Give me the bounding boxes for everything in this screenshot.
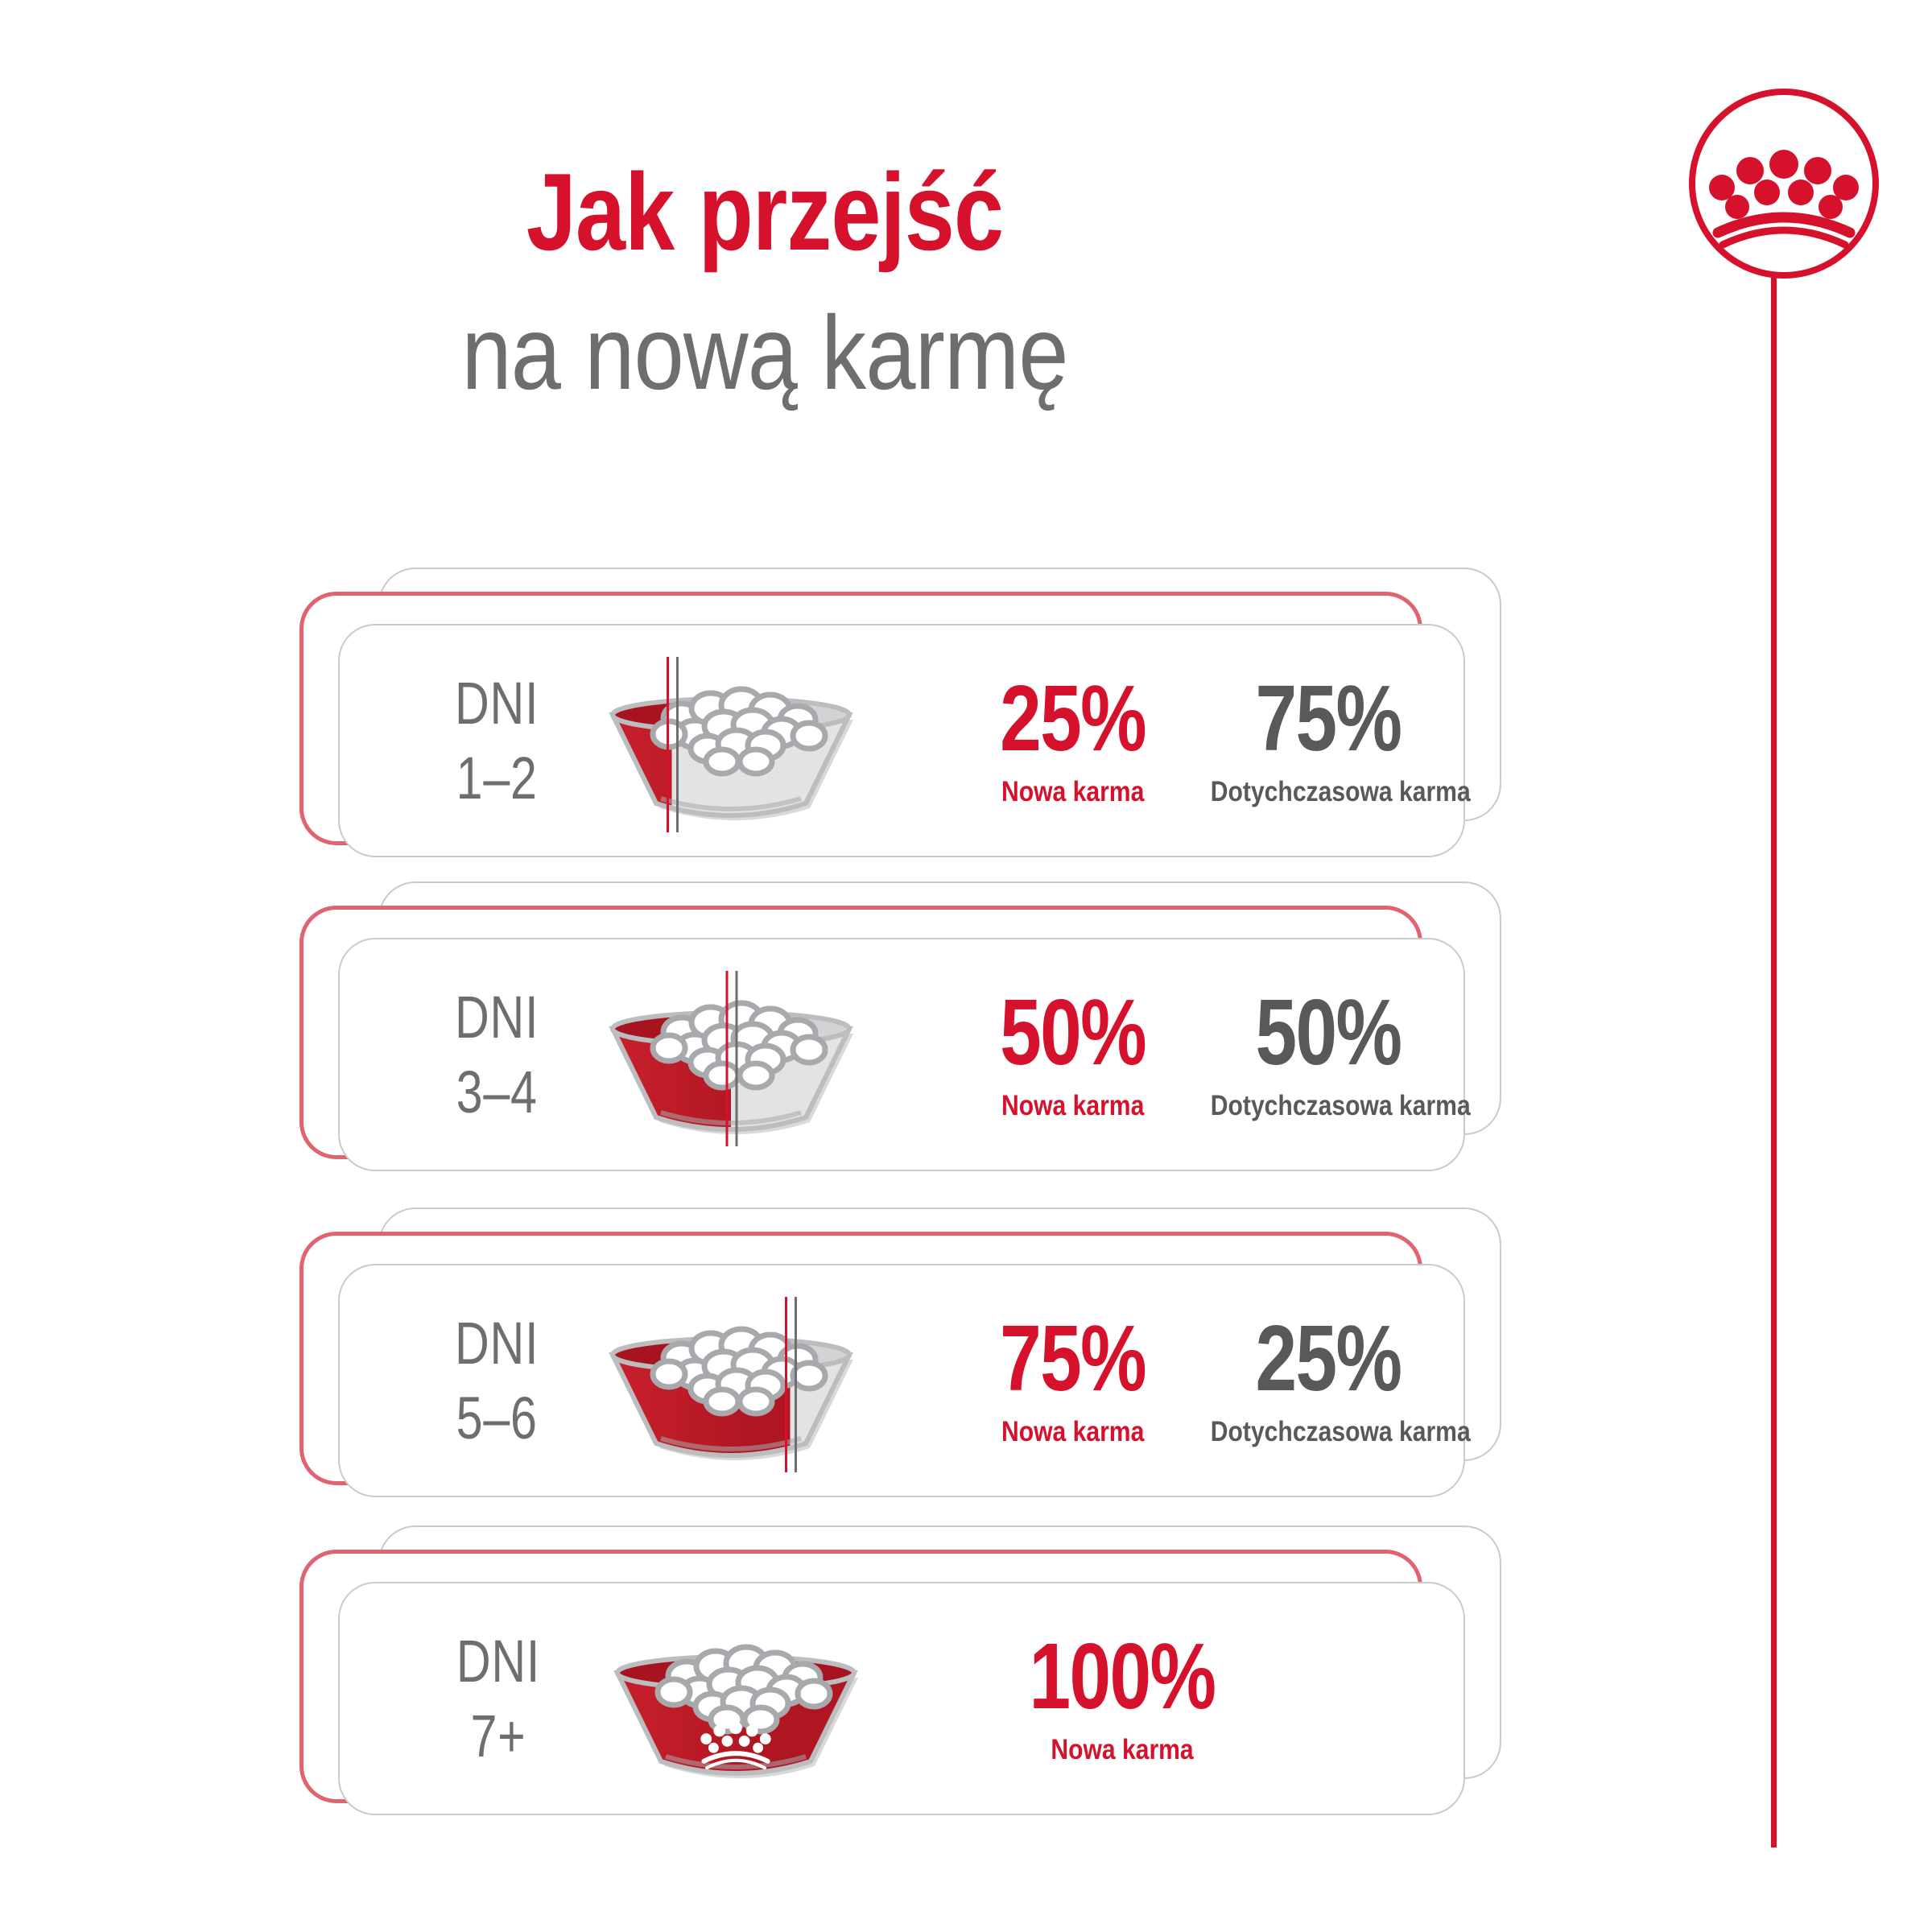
new-food-label: Nowa karma: [970, 1418, 1174, 1446]
day-range: 3–4: [424, 1062, 570, 1122]
bowl0: [598, 644, 864, 837]
new-food-column: 75% Nowa karma: [954, 1315, 1191, 1446]
new-food-percent: 50%: [977, 989, 1167, 1075]
royal-canin-crown-icon: [1687, 87, 1880, 280]
day-word: DNI: [424, 673, 570, 733]
new-food-percent: 25%: [977, 675, 1167, 762]
new-food-label: Nowa karma: [970, 778, 1174, 806]
old-food-label: Dotychczasowa karma: [1211, 1418, 1446, 1446]
old-food-column: 25% Dotychczasowa karma: [1191, 1315, 1465, 1446]
infographic-canvas: Jak przejść na nową karmę DNI: [0, 0, 1932, 1932]
old-food-column: 75% Dotychczasowa karma: [1191, 675, 1465, 806]
day-word: DNI: [424, 1313, 570, 1373]
day-range-label: DNI 1–2: [424, 673, 570, 809]
bowl3: [603, 1602, 869, 1795]
old-food-percent: 25%: [1219, 1315, 1438, 1402]
new-food-label: Nowa karma: [1018, 1736, 1226, 1764]
new-food-percent: 75%: [977, 1315, 1167, 1402]
day-word: DNI: [424, 1631, 572, 1691]
bowl1: [598, 958, 864, 1151]
day-range-label: DNI 3–4: [424, 987, 570, 1123]
day-range: 7+: [424, 1706, 572, 1766]
dog-bowl-icon: [588, 958, 873, 1151]
dog-bowl-icon: [591, 1602, 881, 1795]
dog-bowl-icon: [588, 1284, 873, 1477]
new-food-column: 25% Nowa karma: [954, 675, 1191, 806]
new-food-column: 100% Nowa karma: [1001, 1633, 1243, 1764]
dog-bowl-icon: [588, 644, 873, 837]
title-line-secondary: na nową karmę: [107, 300, 1422, 405]
new-food-label: Nowa karma: [970, 1092, 1174, 1120]
page-title: Jak przejść na nową karmę: [0, 157, 1529, 405]
title-line-primary: Jak przejść: [138, 157, 1392, 266]
day-range-label: DNI 7+: [424, 1631, 572, 1767]
day-word: DNI: [424, 987, 570, 1047]
day-range: 5–6: [424, 1388, 570, 1448]
old-food-label: Dotychczasowa karma: [1211, 1092, 1446, 1120]
step-content-row: DNI 7+: [338, 1582, 1465, 1815]
day-range-label: DNI 5–6: [424, 1313, 570, 1449]
logo-stem-line: [1771, 278, 1777, 1847]
old-food-percent: 75%: [1219, 675, 1438, 762]
bowl2: [598, 1284, 864, 1477]
old-food-label: Dotychczasowa karma: [1211, 778, 1446, 806]
step-content-row: DNI 3–4: [338, 938, 1465, 1171]
step-content-row: DNI 5–6: [338, 1264, 1465, 1497]
step-content-row: DNI 1–2: [338, 624, 1465, 857]
new-food-percent: 100%: [1026, 1633, 1219, 1719]
day-range: 1–2: [424, 748, 570, 808]
old-food-column: 50% Dotychczasowa karma: [1191, 989, 1465, 1120]
new-food-column: 50% Nowa karma: [954, 989, 1191, 1120]
old-food-percent: 50%: [1219, 989, 1438, 1075]
